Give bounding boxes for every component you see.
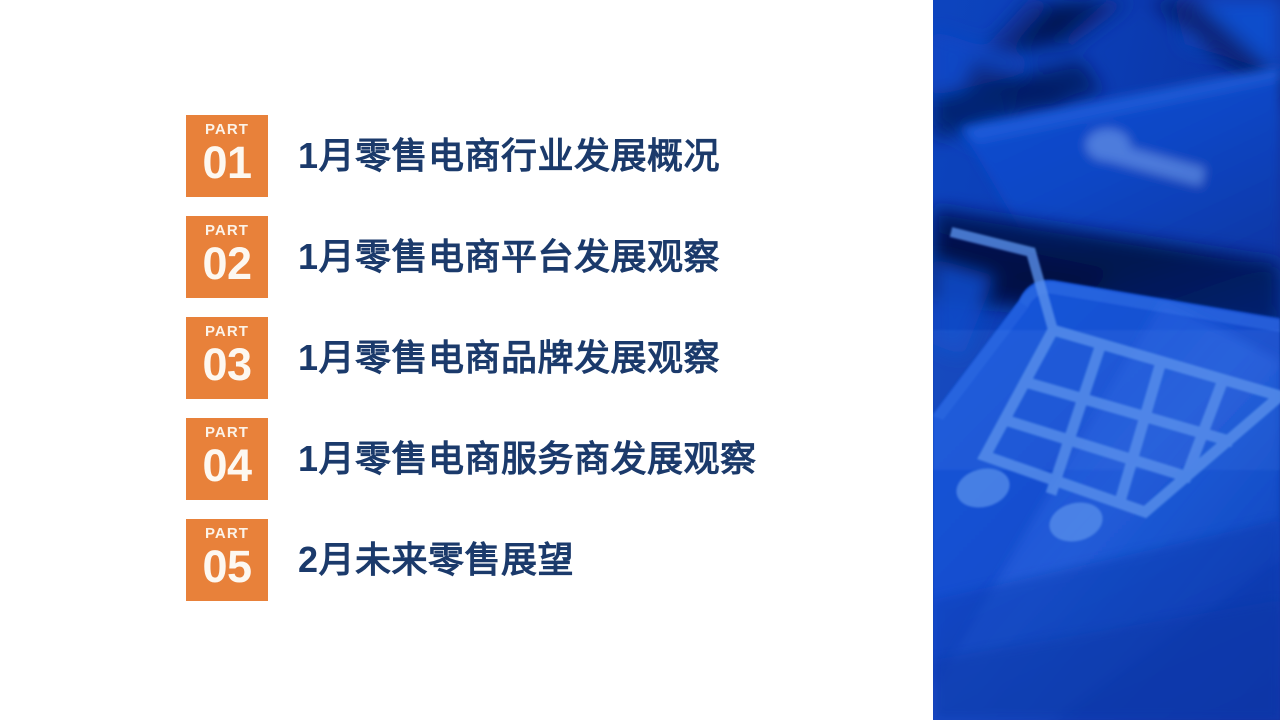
agenda-item[interactable]: PART 01 1月零售电商行业发展概况 [186,115,886,197]
part-number: 03 [202,342,251,387]
agenda-item[interactable]: PART 02 1月零售电商平台发展观察 [186,216,886,298]
agenda-item-title: 1月零售电商服务商发展观察 [298,441,757,477]
keyboard-photo-panel [933,0,1280,720]
part-label: PART [205,526,249,541]
part-number: 04 [202,443,251,488]
agenda-list: PART 01 1月零售电商行业发展概况 PART 02 1月零售电商平台发展观… [186,115,886,601]
agenda-item[interactable]: PART 04 1月零售电商服务商发展观察 [186,418,886,500]
keyboard-photo-illustration [933,0,1280,720]
agenda-item[interactable]: PART 05 2月未来零售展望 [186,519,886,601]
agenda-item-title: 1月零售电商品牌发展观察 [298,340,720,376]
agenda-slide: PART 01 1月零售电商行业发展概况 PART 02 1月零售电商平台发展观… [0,0,1280,720]
part-number: 02 [202,241,251,286]
part-number: 05 [202,544,251,589]
part-label: PART [205,324,249,339]
part-badge: PART 01 [186,115,268,197]
agenda-item[interactable]: PART 03 1月零售电商品牌发展观察 [186,317,886,399]
part-badge: PART 04 [186,418,268,500]
agenda-item-title: 1月零售电商行业发展概况 [298,138,720,174]
part-badge: PART 03 [186,317,268,399]
agenda-item-title: 1月零售电商平台发展观察 [298,239,720,275]
agenda-item-title: 2月未来零售展望 [298,542,574,578]
part-label: PART [205,425,249,440]
part-badge: PART 02 [186,216,268,298]
part-badge: PART 05 [186,519,268,601]
part-number: 01 [202,140,251,185]
part-label: PART [205,223,249,238]
part-label: PART [205,122,249,137]
